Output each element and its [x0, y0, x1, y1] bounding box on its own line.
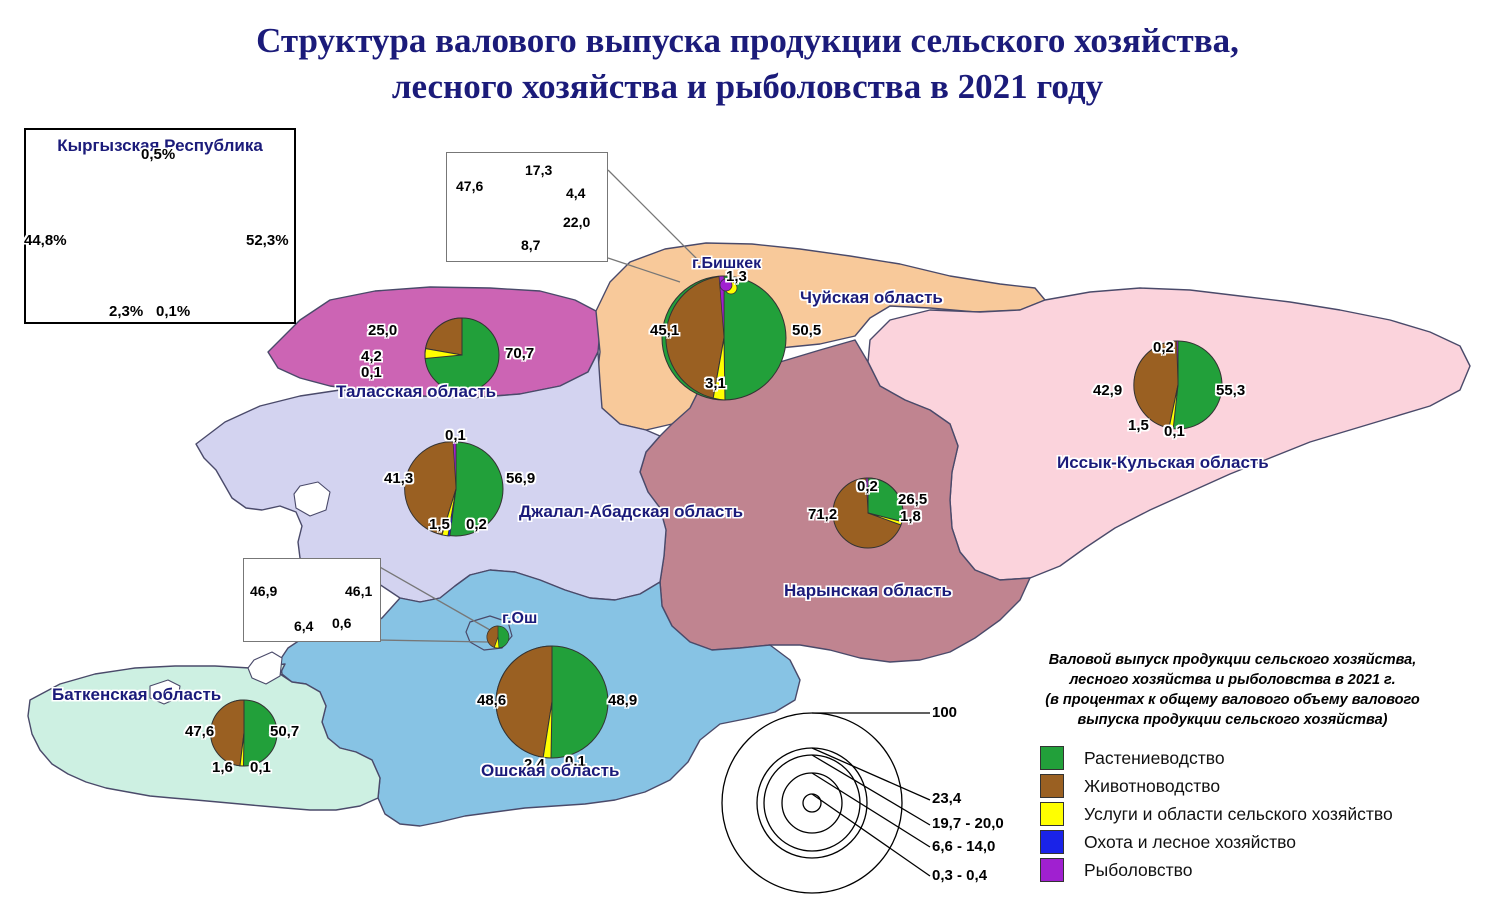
legend-items: Растениеводство Животноводство Услуги и … [1005, 744, 1485, 884]
jalal-abad-label-blue: 0,2 [466, 516, 487, 533]
city-label-osh[interactable]: г.Ош [502, 610, 537, 628]
chuy-label-brown: 45,1 [650, 322, 679, 339]
naryn-label-brown: 71,2 [808, 506, 837, 523]
legend-caption-line-2: лесного хозяйства и рыболовства в 2021 г… [1005, 670, 1460, 690]
legend-label-services: Услуги и области сельского хозяйство [1084, 804, 1393, 825]
legend-row-livestock[interactable]: Животноводство [1040, 772, 1485, 800]
region-label-issyk-kul[interactable]: Иссык-Кульская область [1057, 453, 1269, 473]
legend-caption-line-4: выпуска продукции сельского хозяйства) [1005, 710, 1460, 730]
legend-swatch-livestock [1040, 774, 1064, 798]
batken-label-green: 50,7 [270, 723, 299, 740]
region-label-batken[interactable]: Баткенская область [52, 685, 221, 705]
batken-label-yellow: 1,6 [212, 759, 233, 776]
region-label-talas[interactable]: Таласская область [336, 382, 496, 402]
region-label-chuy[interactable]: Чуйская область [800, 288, 943, 308]
bishkek-label-purple: 47,6 [456, 178, 483, 194]
legend-row-fishing[interactable]: Рыболовство [1040, 856, 1485, 884]
chuy-label-yellow: 3,1 [705, 375, 726, 392]
legend-row-forestry[interactable]: Охота и лесное хозяйство [1040, 828, 1485, 856]
batken-label-other: 0,1 [250, 759, 271, 776]
talas-label-other: 0,1 [361, 364, 382, 381]
osh-city-label-other: 0,6 [332, 615, 351, 631]
pie-batken[interactable] [211, 700, 277, 766]
bishkek-label-green: 17,3 [525, 162, 552, 178]
scale-label-03: 0,3 - 0,4 [932, 867, 987, 884]
osh-city-label-yellow: 6,4 [294, 618, 313, 634]
osh-city-label-brown: 46,9 [250, 583, 277, 599]
legend-label-forestry: Охота и лесное хозяйство [1084, 832, 1296, 853]
jalal-abad-label-purple: 0,1 [445, 427, 466, 444]
legend-label-livestock: Животноводство [1084, 776, 1220, 797]
legend-swatch-forestry [1040, 830, 1064, 854]
city-label-bishkek[interactable]: г.Бишкек [692, 255, 761, 273]
region-label-jalal-abad[interactable]: Джалал-Абадская область [519, 502, 743, 522]
issyk-kul-label-brown: 42,9 [1093, 382, 1122, 399]
legend: Валовой выпуск продукции сельского хозяй… [1005, 650, 1485, 884]
legend-row-crop[interactable]: Растениеводство [1040, 744, 1485, 772]
size-scale-circles [722, 713, 930, 893]
pie-talas[interactable] [425, 318, 499, 392]
kr-label-green: 52,3% [246, 232, 289, 249]
bishkek-label-blue: 4,4 [566, 185, 585, 201]
kr-label-blue: 0,1% [156, 303, 190, 320]
legend-swatch-fishing [1040, 858, 1064, 882]
batken-label-brown: 47,6 [185, 723, 214, 740]
legend-swatch-crop [1040, 746, 1064, 770]
scale-label-66: 6,6 - 14,0 [932, 838, 995, 855]
bishkek-label-yellow: 22,0 [563, 214, 590, 230]
legend-caption-line-1: Валовой выпуск продукции сельского хозяй… [1005, 650, 1460, 670]
naryn-label-purple: 0,2 [857, 478, 878, 495]
legend-caption: Валовой выпуск продукции сельского хозяй… [1005, 650, 1460, 730]
region-label-osh[interactable]: Ошская область [481, 761, 619, 781]
legend-label-fishing: Рыболовство [1084, 860, 1192, 881]
pie-issyk-kul[interactable] [1134, 341, 1222, 429]
osh-label-green: 48,9 [608, 692, 637, 709]
kr-label-purple: 0,5% [141, 146, 175, 163]
issyk-kul-label-green: 55,3 [1216, 382, 1245, 399]
naryn-label-green: 26,5 [898, 491, 927, 508]
jalal-abad-label-brown: 41,3 [384, 470, 413, 487]
kr-label-brown: 44,8% [24, 232, 67, 249]
legend-label-crop: Растениеводство [1084, 748, 1225, 769]
legend-caption-line-3: (в процентах к общему валового объему ва… [1005, 690, 1460, 710]
scale-label-100: 100 [932, 704, 957, 721]
issyk-kul-label-blue: 0,1 [1164, 423, 1185, 440]
scale-label-197: 19,7 - 20,0 [932, 815, 1004, 832]
talas-label-green: 70,7 [505, 345, 534, 362]
talas-label-yellow: 4,2 [361, 348, 382, 365]
osh-city-label-green: 46,1 [345, 583, 372, 599]
bishkek-leader-line [608, 170, 700, 262]
issyk-kul-label-yellow: 1,5 [1128, 417, 1149, 434]
legend-row-services[interactable]: Услуги и области сельского хозяйство [1040, 800, 1485, 828]
legend-swatch-services [1040, 802, 1064, 826]
jalal-abad-label-green: 56,9 [506, 470, 535, 487]
issyk-kul-label-purple: 0,2 [1153, 339, 1174, 356]
scale-label-234: 23,4 [932, 790, 961, 807]
pie-jalal-abad[interactable] [405, 442, 503, 536]
naryn-label-yellow: 1,8 [900, 508, 921, 525]
region-label-naryn[interactable]: Нарынская область [784, 581, 952, 601]
talas-label-brown: 25,0 [368, 322, 397, 339]
pie-osh-region[interactable] [496, 646, 608, 758]
kr-label-yellow: 2,3% [109, 303, 143, 320]
osh-label-brown: 48,6 [477, 692, 506, 709]
bishkek-label-brown: 8,7 [521, 237, 540, 253]
chuy-label-green: 50,5 [792, 322, 821, 339]
pie-osh-city-map[interactable] [487, 626, 509, 648]
jalal-abad-label-yellow: 1,5 [429, 516, 450, 533]
